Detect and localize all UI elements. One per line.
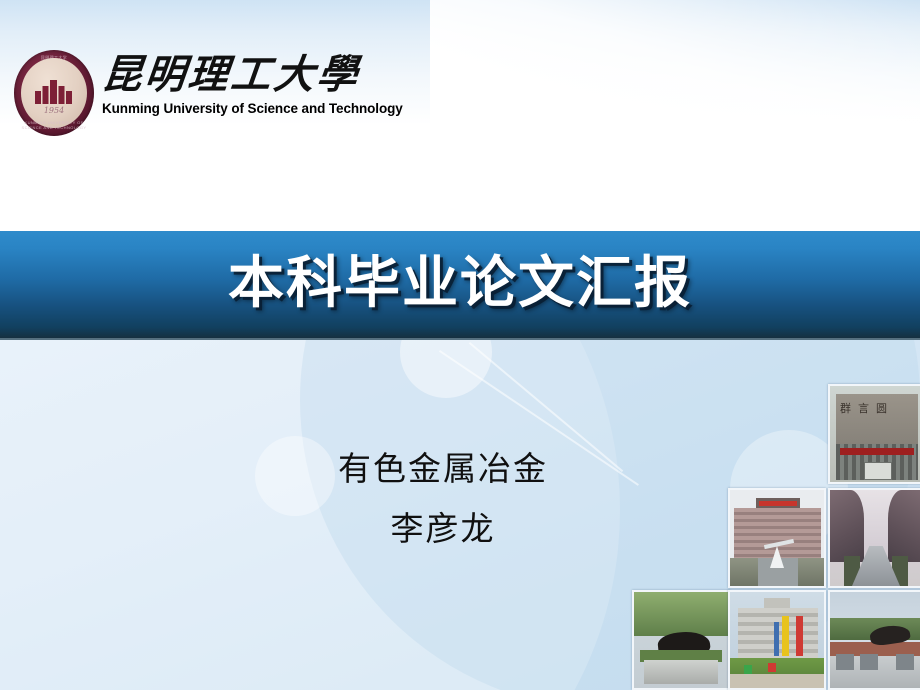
main-academic-building-photo (728, 488, 826, 588)
crest-mountain-mark-icon (35, 80, 73, 104)
campus-building-photo (728, 590, 826, 690)
campus-gate-photo (828, 590, 920, 690)
university-name-cn: 昆明理工大學 (100, 52, 405, 98)
campus-photo-collage: 群言圆 (0, 340, 920, 690)
slide-title: 本科毕业论文汇报 (0, 253, 920, 315)
crest-script-text: 1954 (44, 106, 64, 115)
university-crest-icon: 昆明理工大学 1954 KUNMING UNIVERSITY OF SCIENC… (14, 50, 94, 136)
title-banner: 本科毕业论文汇报 (0, 231, 920, 340)
tree-lined-avenue-photo (828, 488, 920, 588)
library-building-photo: 群言圆 (828, 384, 920, 484)
ox-sculpture-photo (632, 590, 730, 690)
header-sheen-decoration (430, 0, 920, 150)
university-name-en: Kunming University of Science and Techno… (102, 101, 403, 116)
slide-header: 昆明理工大学 1954 KUNMING UNIVERSITY OF SCIENC… (0, 0, 920, 231)
university-branding: 昆明理工大学 1954 KUNMING UNIVERSITY OF SCIENC… (14, 50, 403, 136)
university-name-block: 昆明理工大學 Kunming University of Science and… (102, 50, 403, 116)
crest-ring-text-bottom: KUNMING UNIVERSITY OF SCIENCE AND TECHNO… (14, 120, 94, 130)
slide-body: 有色金属冶金 李彦龙 群言圆 (0, 340, 920, 690)
presentation-slide: 昆明理工大学 1954 KUNMING UNIVERSITY OF SCIENC… (0, 0, 920, 690)
library-facade-characters: 群言圆 (840, 400, 894, 416)
